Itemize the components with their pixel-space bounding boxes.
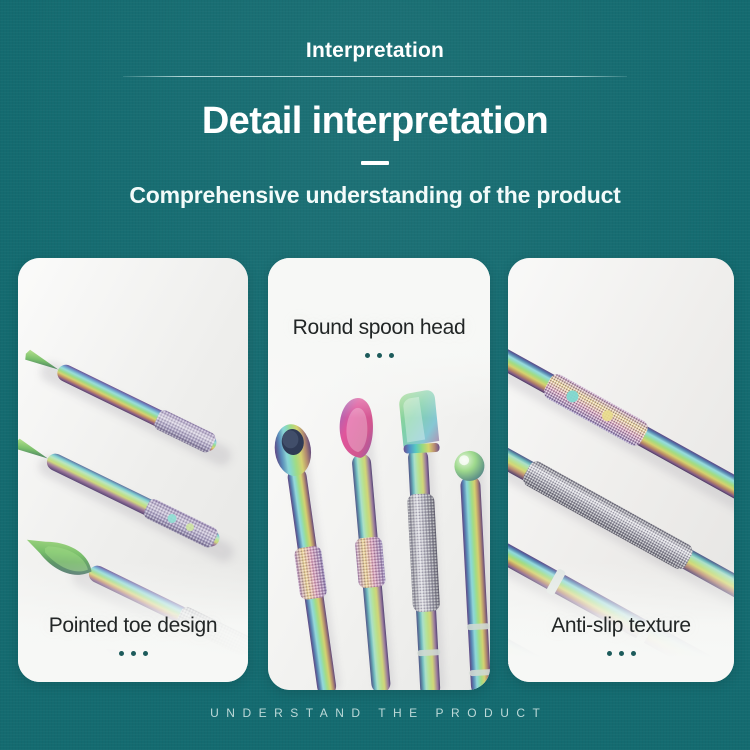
footer-tagline: UNDERSTAND THE PRODUCT [0, 706, 750, 720]
title-dash [361, 161, 389, 165]
detail-card-round-spoon-head[interactable]: Round spoon head [268, 258, 490, 690]
detail-card-pointed-toe-design[interactable]: Pointed toe design [18, 258, 248, 682]
eyebrow-label: Interpretation [0, 38, 750, 64]
page-subtitle: Comprehensive understanding of the produ… [0, 181, 750, 209]
card-dot-indicator [268, 353, 490, 358]
card-caption-text: Anti-slip texture [508, 612, 734, 639]
card-caption-text: Pointed toe design [18, 612, 248, 639]
card-dot-indicator [18, 651, 248, 656]
card-caption-block: Pointed toe design [18, 612, 248, 656]
header-divider [123, 76, 627, 77]
detail-card-anti-slip-texture[interactable]: Anti-slip texture [508, 258, 734, 682]
page-header: Interpretation Detail interpretation Com… [0, 0, 750, 209]
card-caption-block: Round spoon head [268, 314, 490, 358]
card-dot-indicator [508, 651, 734, 656]
page-title: Detail interpretation [0, 98, 750, 144]
card-caption-block: Anti-slip texture [508, 612, 734, 656]
card-caption-text: Round spoon head [268, 314, 490, 341]
